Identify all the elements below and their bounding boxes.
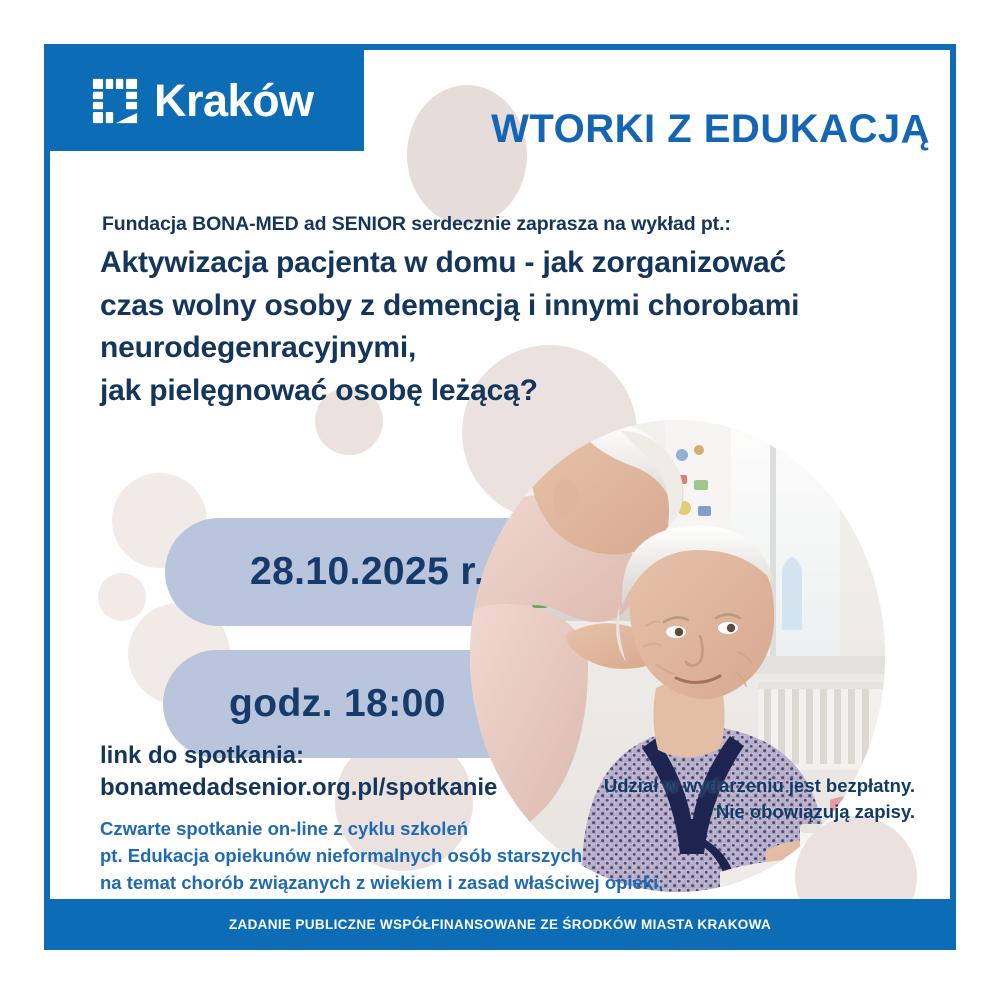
meeting-link-block: link do spotkania: bonamedadsenior.org.p…	[100, 740, 497, 803]
meeting-link-label: link do spotkania:	[100, 740, 497, 772]
event-time-text: godz. 18:00	[229, 682, 446, 726]
series-description-line: Czwarte spotkanie on-line z cyklu szkole…	[100, 815, 663, 842]
poster-frame: Kraków WTORKI Z EDUKACJĄ Fundacja BONA-M…	[44, 44, 956, 950]
poster-inner: Kraków WTORKI Z EDUKACJĄ Fundacja BONA-M…	[50, 50, 950, 944]
lecture-title-line: jak pielęgnować osobę leżącą?	[100, 370, 920, 413]
lecture-title-line: neurodegenracyjnymi,	[100, 327, 920, 370]
poster-title: WTORKI Z EDUKACJĄ	[491, 107, 930, 152]
funding-footer-text: ZADANIE PUBLICZNE WSPÓŁFINANSOWANE ZE ŚR…	[229, 917, 771, 932]
lecture-title: Aktywizacja pacjenta w domu - jak zorgan…	[100, 242, 920, 412]
decorative-circle-left-small	[98, 573, 146, 621]
poster-canvas: Kraków WTORKI Z EDUKACJĄ Fundacja BONA-M…	[0, 0, 1000, 1000]
krakow-logo-bar: Kraków	[50, 50, 364, 151]
meeting-link-url[interactable]: bonamedadsenior.org.pl/spotkanie	[100, 772, 497, 804]
lecture-title-line: czas wolny osoby z demencją i innymi cho…	[100, 285, 920, 328]
event-date-text: 28.10.2025 r.	[250, 550, 485, 594]
lecture-title-line: Aktywizacja pacjenta w domu - jak zorgan…	[100, 242, 920, 285]
krakow-grid-logo-icon	[92, 78, 138, 124]
series-description-line: pt. Edukacja opiekunów nieformalnych osó…	[100, 842, 663, 869]
series-description: Czwarte spotkanie on-line z cyklu szkole…	[100, 815, 663, 896]
poster-title-wrap: WTORKI Z EDUKACJĄ	[380, 94, 930, 164]
free-note-line: Udział w wydarzeniu jest bezpłatny.	[570, 773, 915, 799]
series-description-line: na temat chorób związanych z wiekiem i z…	[100, 869, 663, 896]
invite-line: Fundacja BONA-MED ad SENIOR serdecznie z…	[102, 213, 731, 236]
funding-footer-bar: ZADANIE PUBLICZNE WSPÓŁFINANSOWANE ZE ŚR…	[50, 899, 950, 944]
krakow-wordmark: Kraków	[154, 78, 314, 123]
